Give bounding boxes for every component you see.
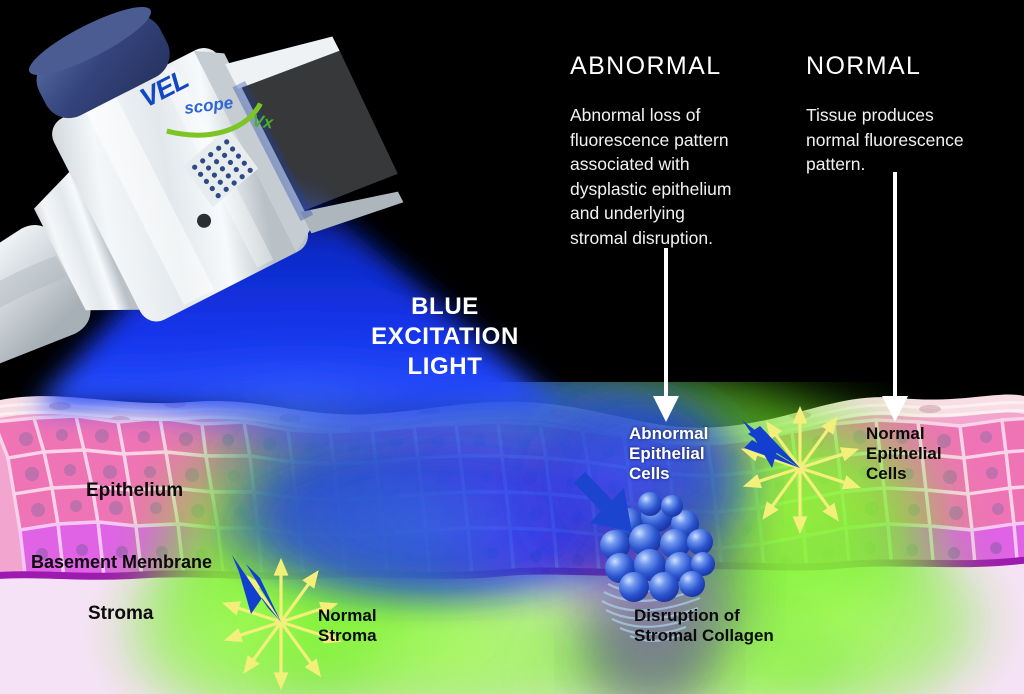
callout-normal-arrow [882,172,908,422]
callout-abnormal-arrow [653,248,679,422]
callout-normal: NORMAL Tissue produces normal fluorescen… [806,52,1006,177]
label-stroma: Stroma [88,604,153,624]
normal-body-line-1: Tissue produces [806,103,1006,128]
abnormal-body-line-4: dysplastic epithelium [570,177,780,202]
disruption-line1: Disruption of [634,606,774,626]
normal-cells-line2: Epithelial [866,444,942,464]
callout-abnormal: ABNORMAL Abnormal loss of fluorescence p… [570,52,780,250]
figure-canvas: BLUE EXCITATION LIGHT [0,0,1024,694]
abnormal-body-line-6: stromal disruption. [570,226,780,251]
label-basement-membrane: Basement Membrane [31,552,212,572]
normal-body-line-2: normal fluorescence [806,128,1006,153]
abnormal-body-line-3: associated with [570,152,780,177]
callout-normal-body: Tissue produces normal fluorescence patt… [806,103,1006,177]
normal-cells-line1: Normal [866,424,942,444]
abnormal-cells-line1: Abnormal [629,424,708,444]
label-disruption-stromal-collagen: Disruption of Stromal Collagen [634,606,774,646]
callout-abnormal-heading: ABNORMAL [570,52,780,81]
abnormal-body-line-2: fluorescence pattern [570,128,780,153]
velscope-handpiece[interactable]: VEL scope Vx [0,0,420,410]
label-normal-epithelial-cells: Normal Epithelial Cells [866,424,942,484]
normal-cells-line3: Cells [866,464,942,484]
abnormal-cells-line3: Cells [629,464,708,484]
disruption-line2: Stromal Collagen [634,626,774,646]
abnormal-body-line-1: Abnormal loss of [570,103,780,128]
callout-normal-heading: NORMAL [806,52,1006,81]
normal-stroma-line1: Normal [318,606,377,626]
logo-vx-text: Vx [251,111,275,133]
label-normal-stroma: Normal Stroma [318,606,377,646]
abnormal-body-line-5: and underlying [570,201,780,226]
label-abnormal-epithelial-cells: Abnormal Epithelial Cells [629,424,708,484]
callout-abnormal-body: Abnormal loss of fluorescence pattern as… [570,103,780,250]
abnormal-cells-line2: Epithelial [629,444,708,464]
normal-stroma-line2: Stroma [318,626,377,646]
label-epithelium: Epithelium [86,481,183,501]
